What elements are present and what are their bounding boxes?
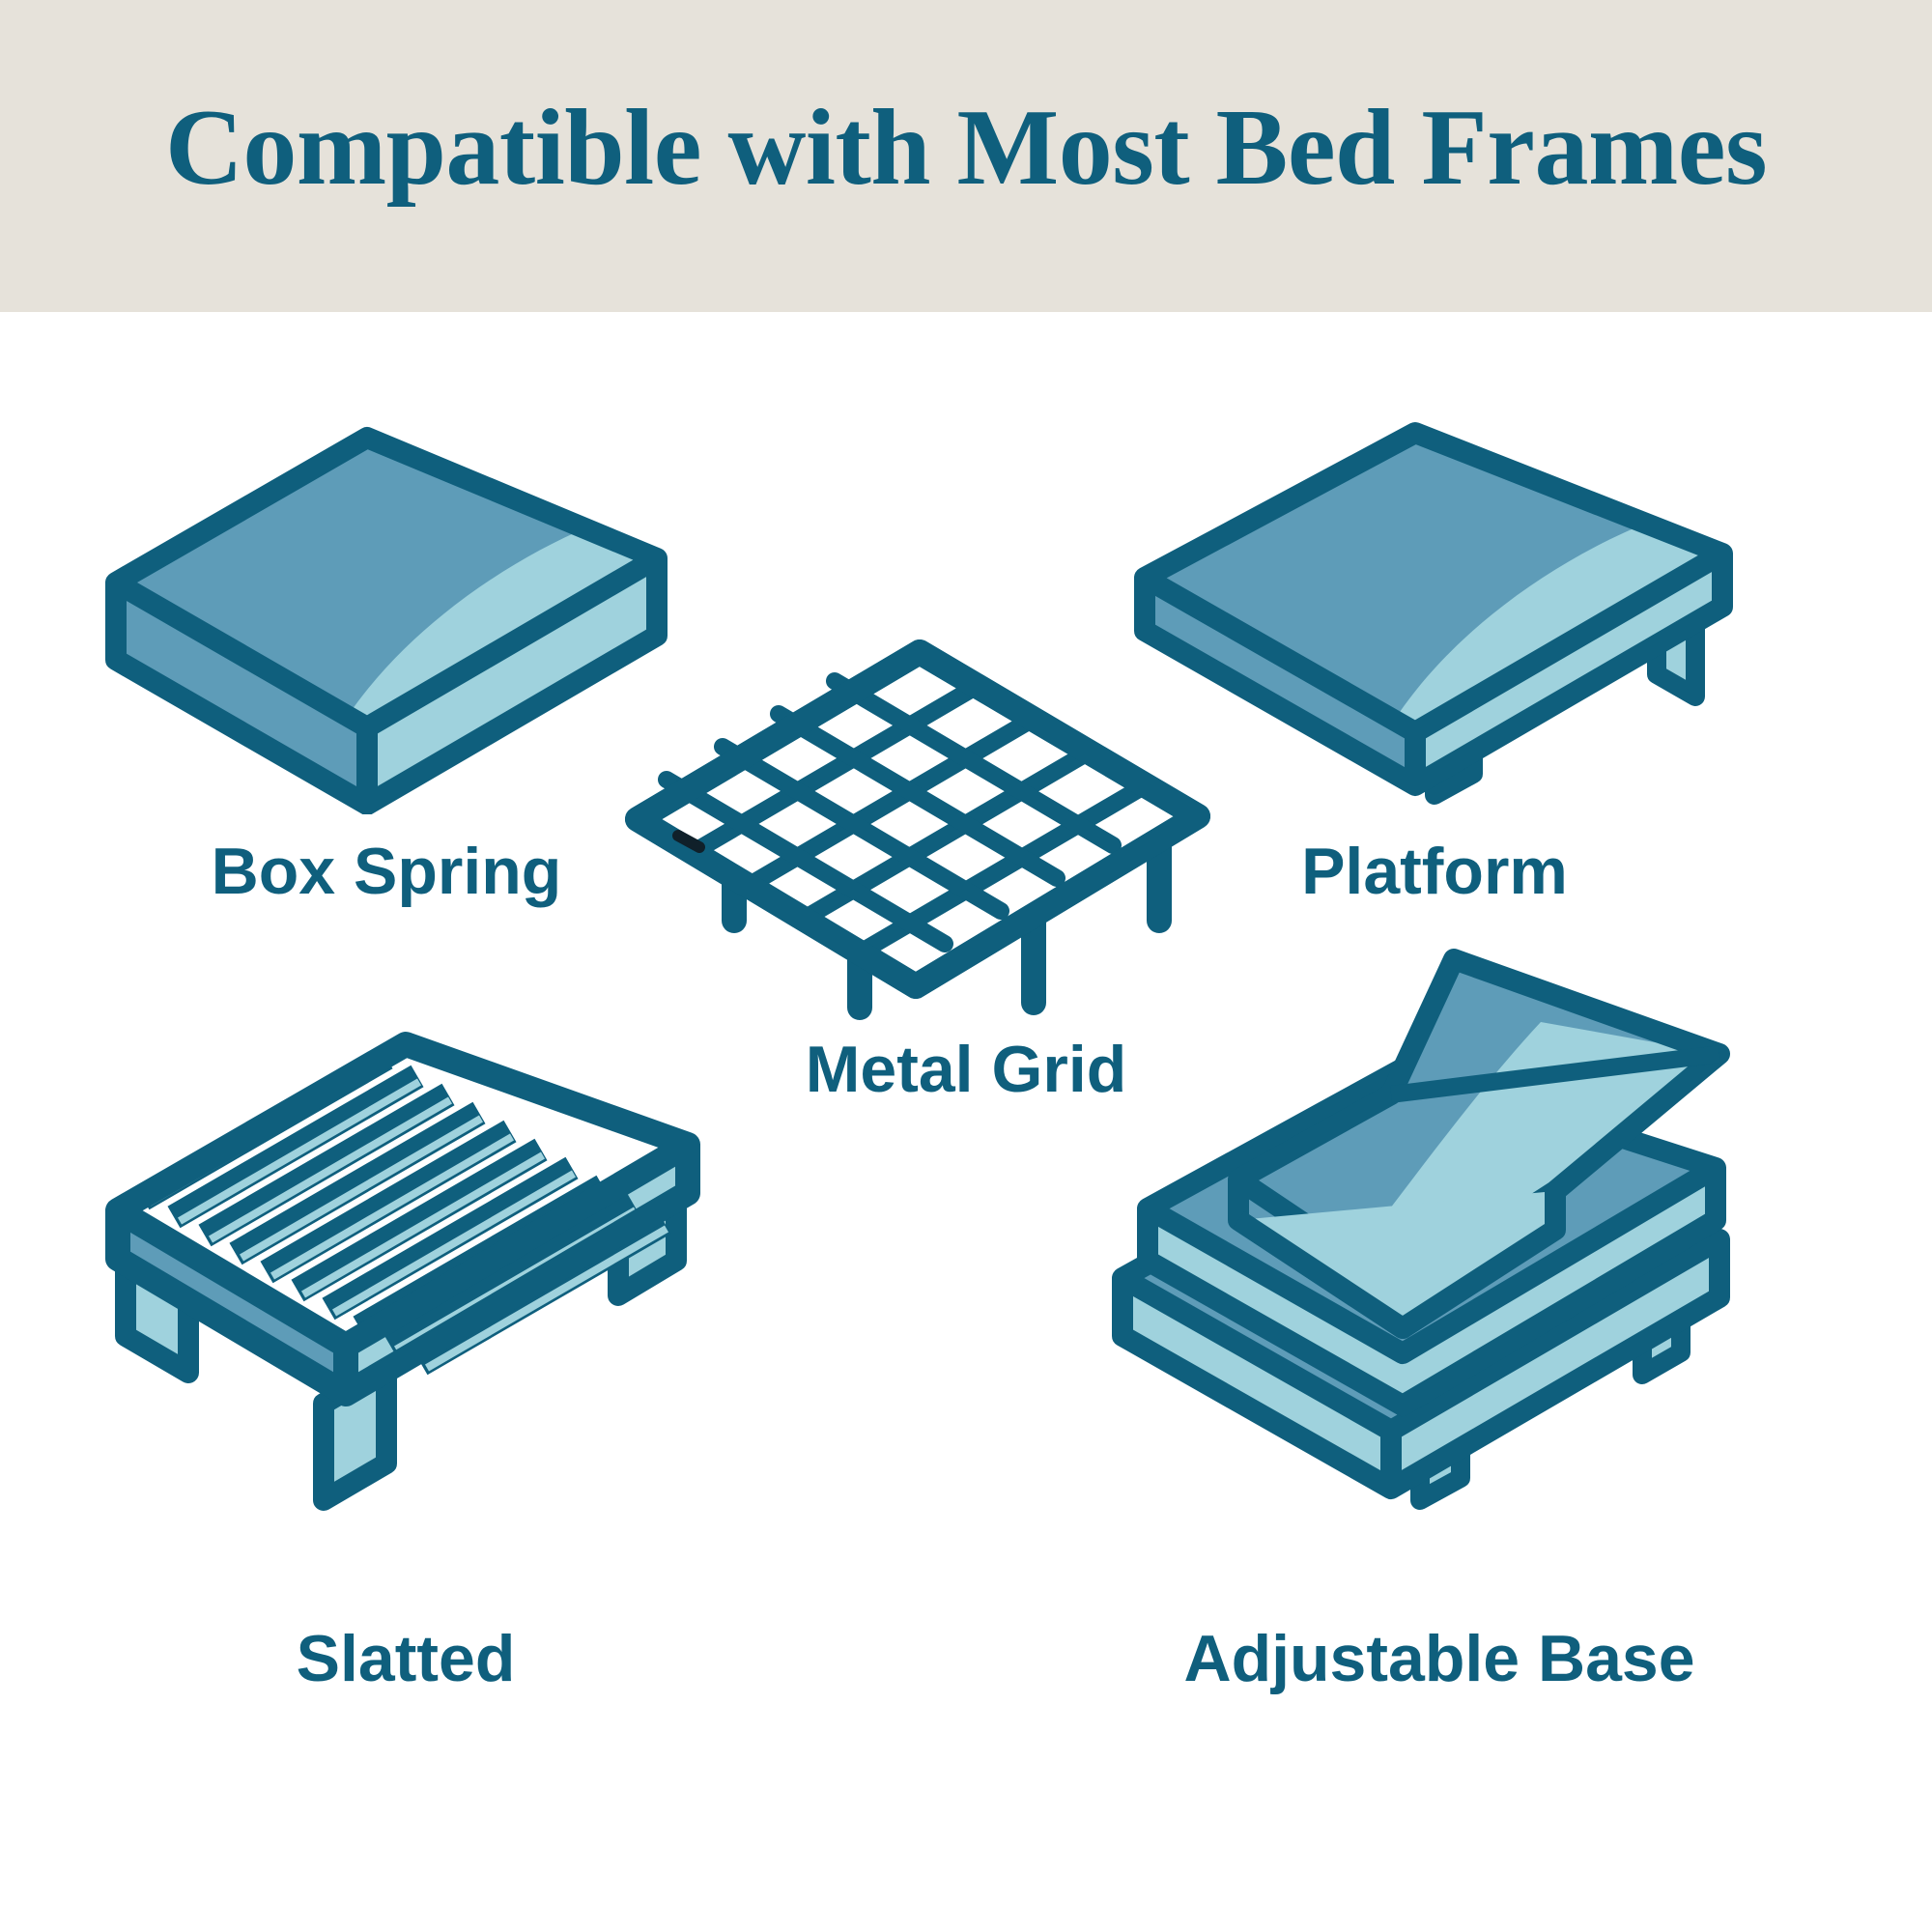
item-adjustable-base: Adjustable Base — [1101, 930, 1777, 1568]
slatted-icon — [97, 950, 715, 1587]
header-band: Compatible with Most Bed Frames — [0, 0, 1932, 312]
illustration-canvas: Box Spring Platform — [0, 312, 1932, 1932]
label-slatted: Slatted — [97, 1626, 715, 1691]
item-box-spring: Box Spring — [87, 312, 686, 930]
label-box-spring: Box Spring — [87, 838, 686, 904]
page-title: Compatible with Most Bed Frames — [165, 94, 1767, 219]
adjustable-base-icon — [1101, 930, 1777, 1587]
label-adjustable-base: Adjustable Base — [1101, 1626, 1777, 1691]
box-spring-icon — [87, 312, 686, 814]
item-slatted: Slatted — [97, 950, 715, 1568]
